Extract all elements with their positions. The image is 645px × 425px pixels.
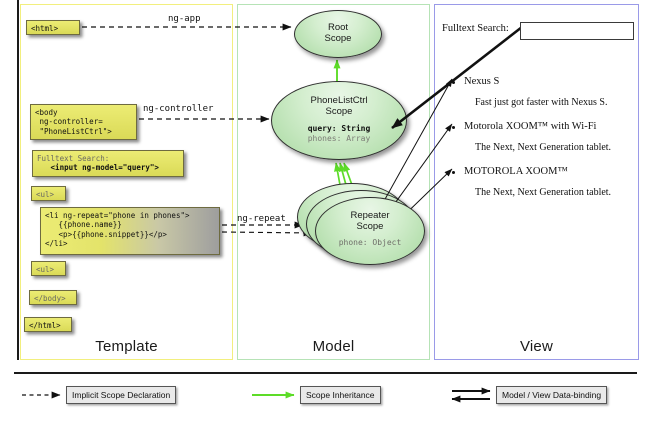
legend-label-scope-inheritance: Scope Inheritance	[300, 386, 381, 404]
edge-label-ng-app: ng-app	[168, 14, 201, 24]
legend-glyph-layer	[0, 0, 645, 425]
legend-label-model-view-databinding: Model / View Data-binding	[496, 386, 607, 404]
legend-glyph-model-view-databinding	[452, 391, 490, 399]
edge-label-ng-controller: ng-controller	[143, 104, 213, 114]
legend-label-implicit-scope-declaration: Implicit Scope Declaration	[66, 386, 176, 404]
diagram-canvas: Template Model View	[0, 0, 645, 425]
edge-label-ng-repeat: ng-repeat	[237, 214, 286, 224]
